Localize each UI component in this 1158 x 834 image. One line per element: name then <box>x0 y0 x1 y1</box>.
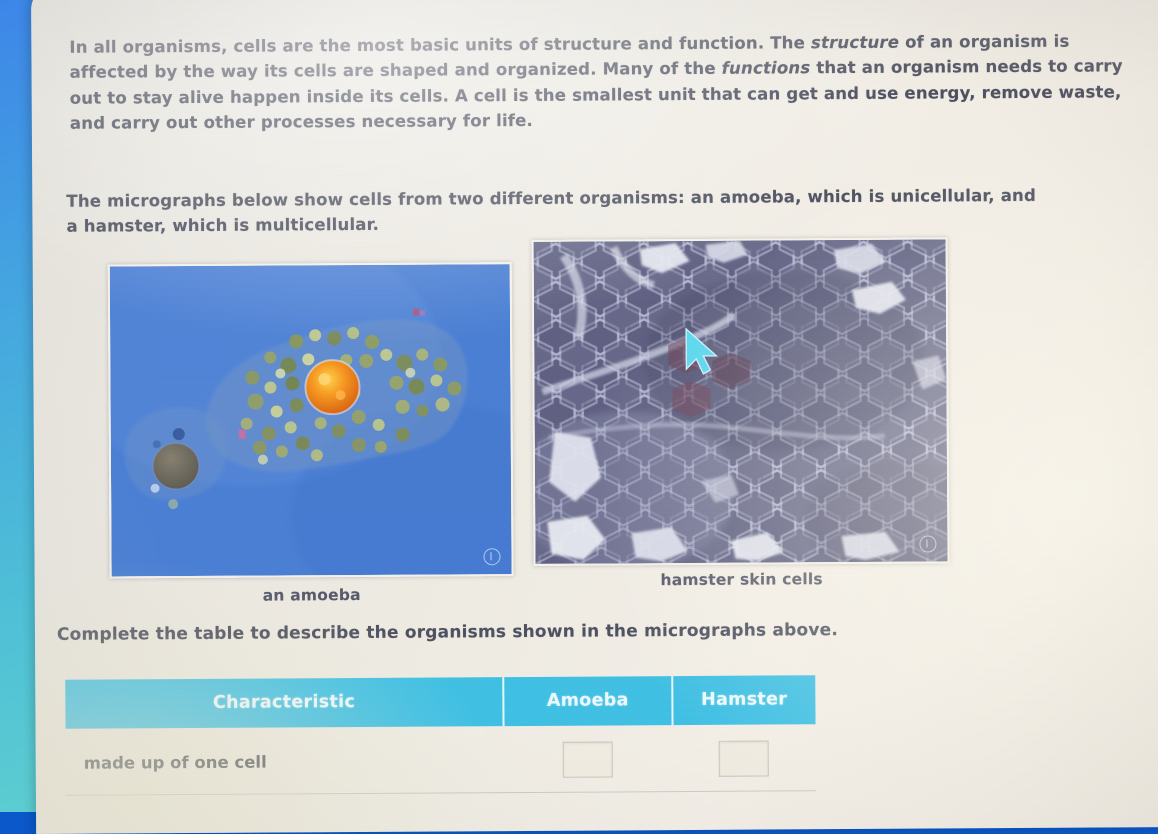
figure-hamster: hamster skin cells <box>532 237 950 590</box>
caption-hamster: hamster skin cells <box>534 569 950 590</box>
cell-hamster-one-cell <box>672 724 816 791</box>
worksheet-content: In all organisms, cells are the most bas… <box>31 0 1158 834</box>
instruction-text: Complete the table to describe the organ… <box>57 620 838 645</box>
worksheet-card: In all organisms, cells are the most bas… <box>31 0 1158 834</box>
checkbox-amoeba-one-cell[interactable] <box>563 741 613 777</box>
passage-paragraph-2: The micrographs below show cells from tw… <box>66 182 1046 239</box>
column-header-amoeba: Amoeba <box>504 676 673 726</box>
info-icon <box>919 535 936 552</box>
cell-amoeba-one-cell <box>504 725 673 793</box>
info-icon <box>483 548 500 565</box>
passage-italic-structure: structure <box>811 32 899 52</box>
hamster-micrograph-image <box>532 237 950 566</box>
passage-text-1: In all organisms, cells are the most bas… <box>69 33 811 57</box>
table-row: made up of one cell <box>66 724 816 795</box>
amoeba-micrograph-image <box>108 262 514 578</box>
hamster-svg <box>534 239 948 564</box>
amoeba-svg <box>110 264 512 576</box>
caption-amoeba: an amoeba <box>110 585 514 605</box>
table-body: made up of one cell <box>66 724 816 795</box>
checkbox-hamster-one-cell[interactable] <box>719 741 769 777</box>
row-label-made-up-of-one-cell: made up of one cell <box>66 726 505 795</box>
passage-paragraph-1: In all organisms, cells are the most bas… <box>69 28 1130 137</box>
table-header-row: Characteristic Amoeba Hamster <box>65 675 815 729</box>
characteristics-table: Characteristic Amoeba Hamster made up of… <box>65 675 816 796</box>
column-header-characteristic: Characteristic <box>65 677 504 729</box>
figure-amoeba: an amoeba <box>108 262 514 605</box>
column-header-hamster: Hamster <box>672 675 816 725</box>
table-head: Characteristic Amoeba Hamster <box>65 675 815 729</box>
passage-italic-functions: functions <box>722 58 811 78</box>
